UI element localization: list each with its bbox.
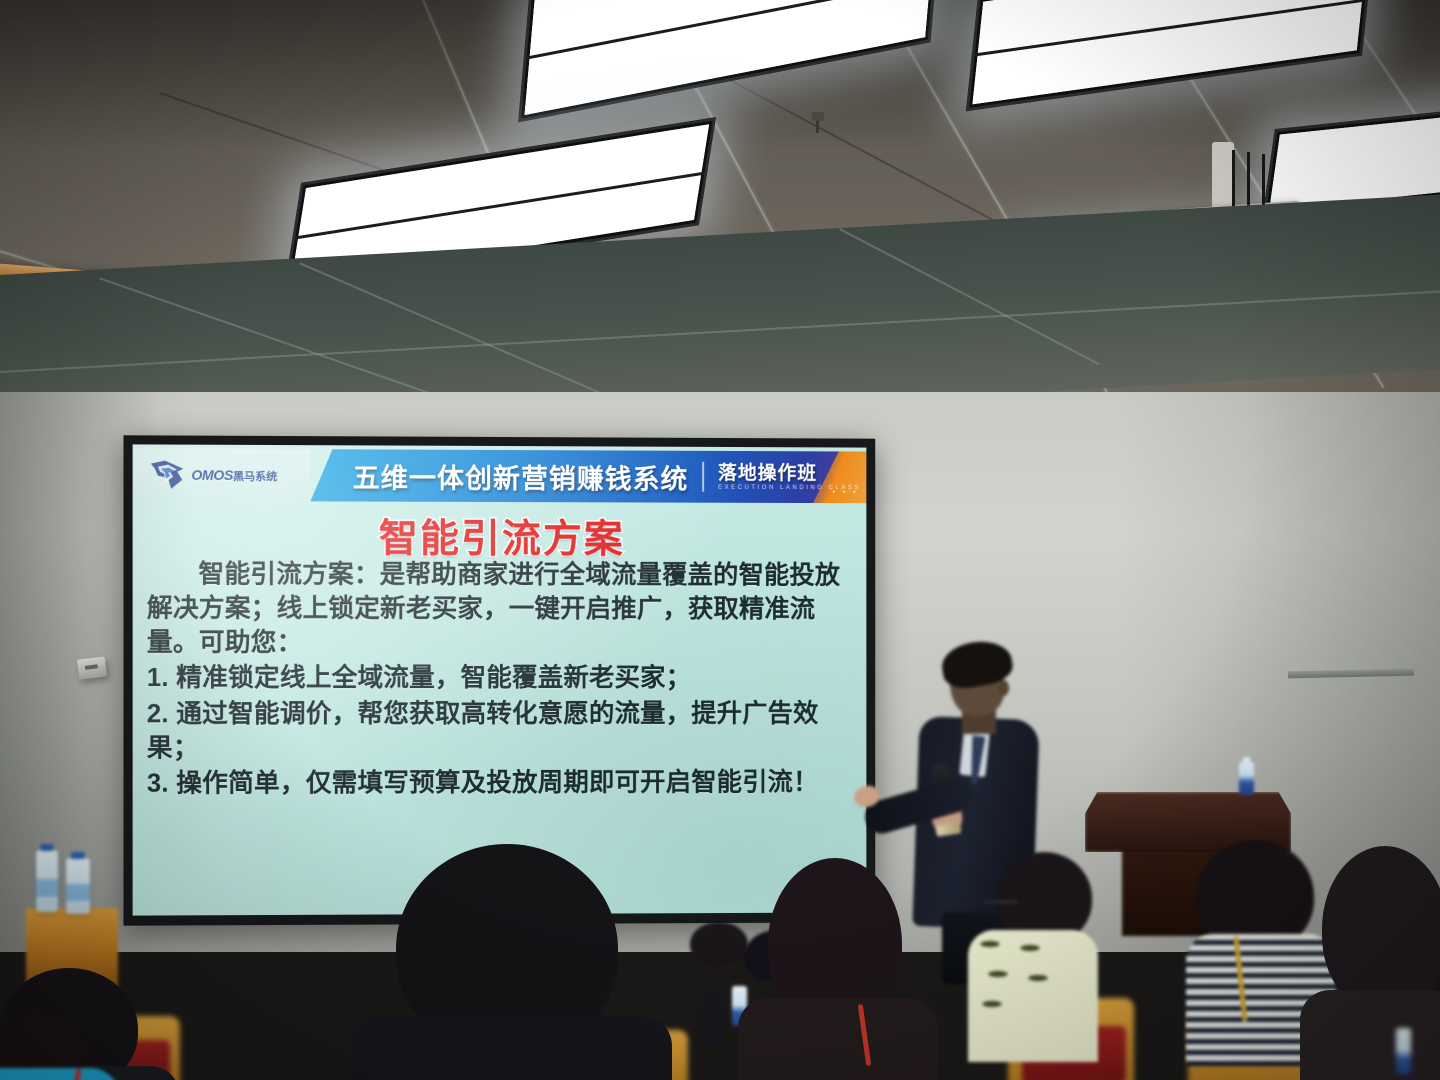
brand-logo-latin: OMOS (191, 466, 233, 482)
banner-sub-title: 落地操作班 (718, 463, 861, 482)
photo-scene: ▪ ▪ ▪ (0, 0, 1440, 1080)
audience-body (1300, 990, 1440, 1080)
audience-body (352, 1016, 672, 1080)
banner-dots: • • • (833, 489, 859, 496)
audience-jacket (968, 930, 1098, 1062)
projector-mount-pole (1212, 142, 1234, 212)
water-bottle (1239, 762, 1254, 795)
audience-body (738, 998, 938, 1080)
ceiling-light-fixture (966, 0, 1374, 111)
brand-logo-text: OMOS黑马系统 (191, 466, 277, 483)
wall-sensor-icon (77, 656, 107, 679)
audience (0, 830, 1440, 1080)
audience-body (0, 1068, 120, 1080)
banner-blue-bar: 五维一体创新营销赚钱系统 落地操作班 EXECUTION LANDING CLA… (310, 449, 866, 503)
banner-sub-wrap: 落地操作班 EXECUTION LANDING CLASS (718, 463, 861, 490)
slide-list-item-2: 2. 通过智能调价，帮您获取高转化意愿的流量，提升广告效果； (147, 697, 857, 766)
water-bottle (1396, 1028, 1411, 1074)
slide-list-item-3: 3. 操作简单，仅需填写预算及投放周期即可开启智能引流！ (147, 765, 857, 801)
banner-divider (702, 462, 704, 492)
slide-title: 智能引流方案 (133, 507, 867, 565)
horse-head-icon (149, 460, 187, 490)
audience-head (1322, 846, 1440, 1012)
slide-banner: OMOS黑马系统 五维一体创新营销赚钱系统 落地操作班 EXECUTION LA… (133, 448, 867, 503)
ceiling-light-fixture (518, 0, 942, 122)
slide-list-item-1: 1. 精准锁定线上全域流量，智能覆盖新老买家； (147, 661, 857, 695)
presenter-ear (998, 680, 1009, 696)
brand-logo: OMOS黑马系统 (133, 448, 311, 501)
slide-paragraph: 智能引流方案：是帮助商家进行全域流量覆盖的智能投放解决方案；线上锁定新老买家，一… (147, 557, 857, 660)
eyeglasses-icon (984, 900, 1018, 904)
smartphone (700, 988, 724, 1046)
audience-head (690, 922, 748, 966)
sprinkler-head (812, 112, 824, 121)
banner-main-title: 五维一体创新营销赚钱系统 (353, 456, 689, 496)
brand-logo-cn: 黑马系统 (233, 470, 277, 482)
slide-body: 智能引流方案：是帮助商家进行全域流量覆盖的智能投放解决方案；线上锁定新老买家，一… (147, 557, 857, 802)
